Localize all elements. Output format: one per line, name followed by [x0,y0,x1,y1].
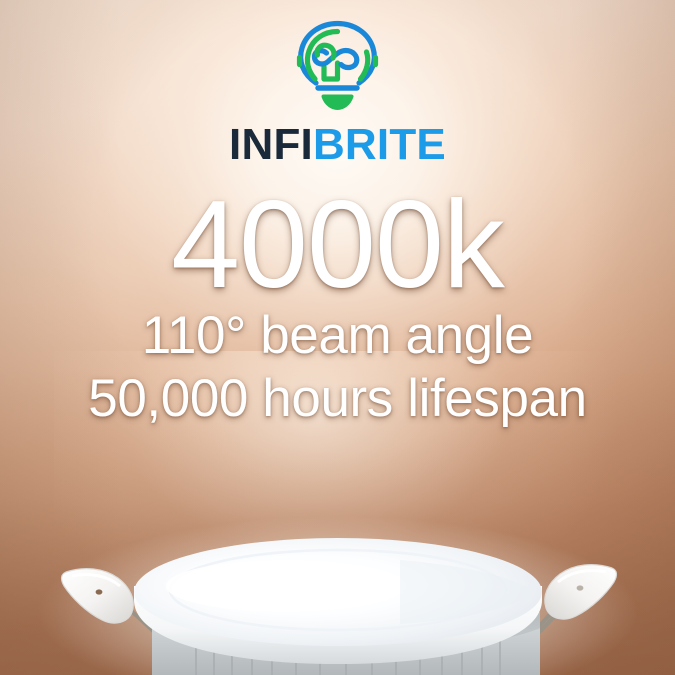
product-marketing-image: INFIBRITE 4000k 110° beam angle 50,000 h… [0,0,675,675]
product-downlight-image [0,0,675,675]
panel-highlight-core [202,569,334,599]
